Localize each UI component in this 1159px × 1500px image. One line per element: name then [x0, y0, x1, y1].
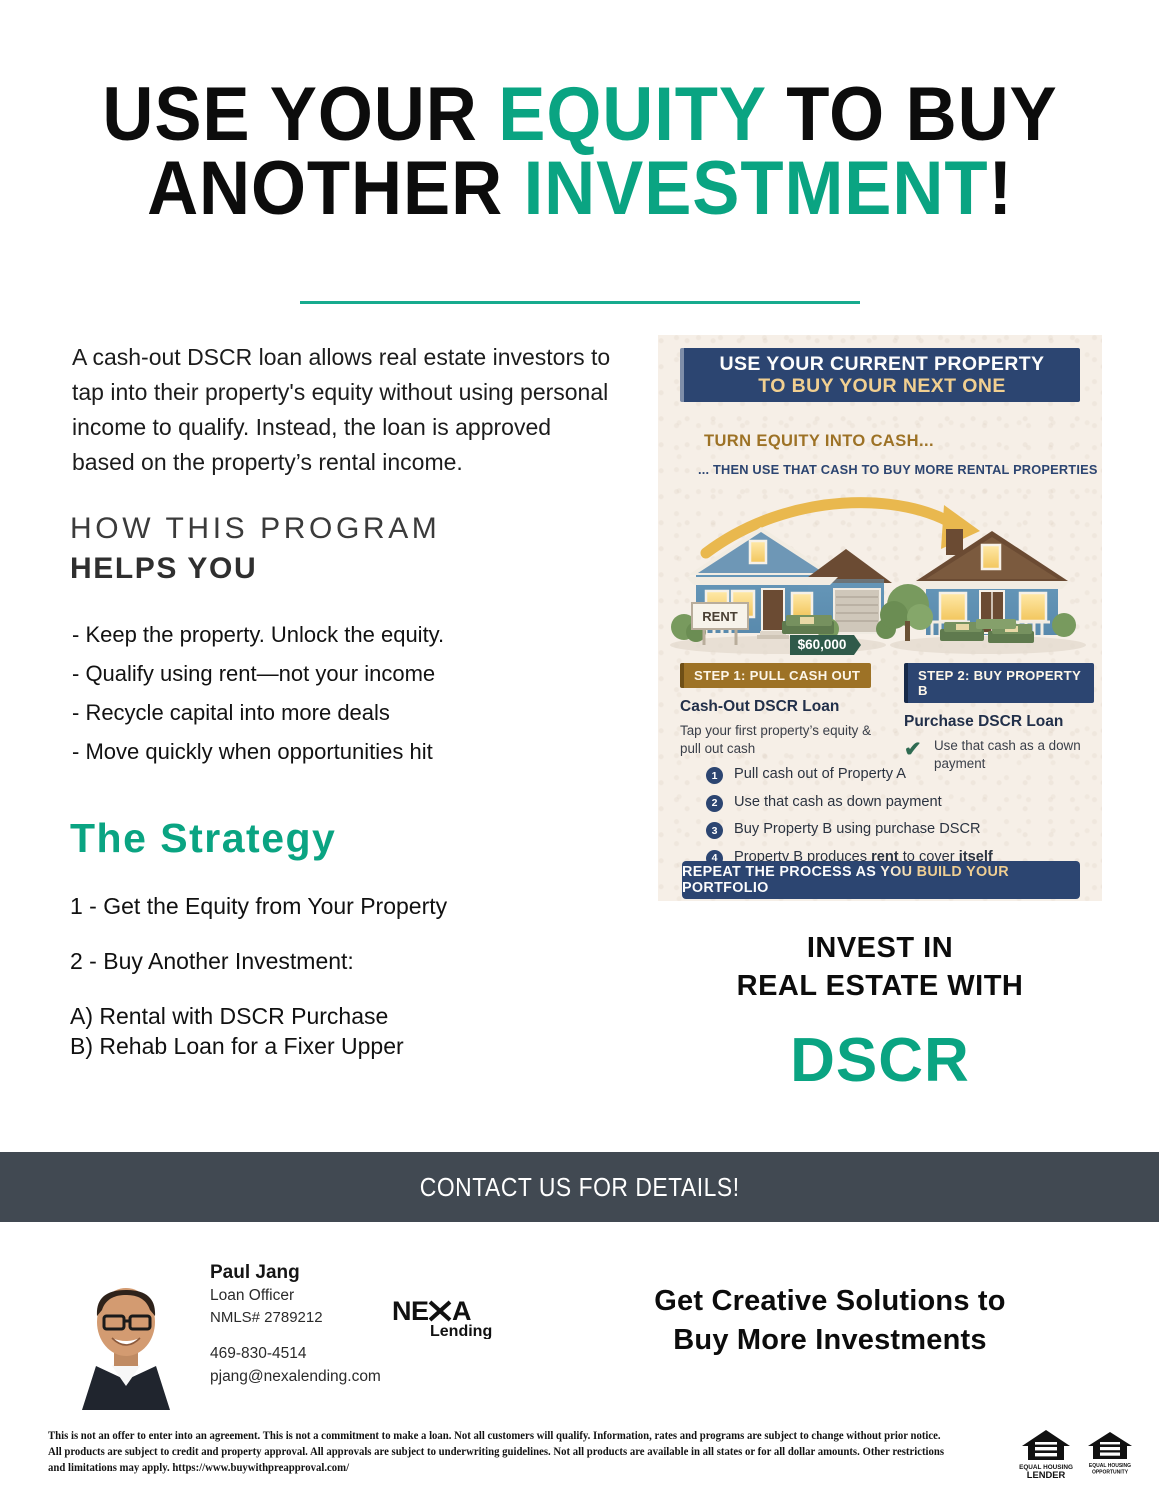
invest-line-2: REAL ESTATE WITH: [737, 970, 1024, 1002]
houses-illustration: RENT $60,000: [658, 493, 1102, 663]
avatar: [52, 1262, 200, 1410]
list-item: - Qualify using rent—not your income: [72, 661, 617, 687]
intro-paragraph: A cash-out DSCR loan allows real estate …: [72, 340, 617, 480]
contact-banner-label: CONTACT US FOR DETAILS!: [420, 1172, 740, 1203]
house-a: RENT $60,000: [671, 527, 896, 655]
nexa-letter-n: N: [392, 1297, 412, 1326]
headline-text: TO BUY: [766, 72, 1058, 157]
equal-housing-opportunity-icon: EQUAL HOUSING OPPORTUNITY: [1088, 1432, 1132, 1476]
repeat-process-label: REPEAT THE PROCESS AS YOU BUILD YOUR POR…: [682, 864, 1080, 896]
house-b: [880, 529, 1076, 643]
svg-text:LENDER: LENDER: [1027, 1469, 1066, 1480]
list-item: 1 Pull cash out of Property A: [706, 766, 1096, 784]
number-badge: 2: [706, 795, 723, 812]
headline-line-2: ANOTHER INVESTMENT!: [147, 146, 1013, 231]
rent-sign-label: RENT: [702, 609, 737, 624]
how-heading-bold: HELPS YOU: [70, 552, 257, 586]
infographic-header-band: USE YOUR CURRENT PROPERTY TO BUY YOUR NE…: [680, 348, 1080, 402]
step-1-badge: STEP 1: PULL CASH OUT: [680, 663, 871, 688]
headline-text: USE YOUR: [102, 72, 498, 157]
checkmark-icon: ✔: [904, 739, 926, 759]
svg-text:EQUAL HOUSING: EQUAL HOUSING: [1089, 1463, 1131, 1469]
strategy-option-a: A) Rental with DSCR Purchase: [70, 1003, 388, 1029]
repeat-process-banner: REPEAT THE PROCESS AS YOU BUILD YOUR POR…: [682, 861, 1080, 899]
agent-nmls: NMLS# 2789212: [210, 1309, 323, 1326]
svg-text:OPPORTUNITY: OPPORTUNITY: [1092, 1470, 1129, 1476]
nexa-lending-logo: N E A Lending: [392, 1297, 502, 1344]
agent-role: Loan Officer: [210, 1287, 294, 1305]
nexa-lending-word: Lending: [430, 1323, 492, 1339]
agent-phone[interactable]: 469-830-4514: [210, 1345, 307, 1363]
dscr-wordmark: DSCR: [660, 1025, 1100, 1096]
process-numbered-list: 1 Pull cash out of Property A 2 Use that…: [706, 766, 1096, 876]
list-item: - Keep the property. Unlock the equity.: [72, 622, 617, 648]
process-step-text: Use that cash as down payment: [734, 794, 942, 810]
contact-banner: CONTACT US FOR DETAILS!: [0, 1152, 1159, 1222]
strategy-step-2: 2 - Buy Another Investment:: [70, 948, 630, 975]
step-2-badge: STEP 2: BUY PROPERTY B: [904, 663, 1094, 703]
agent-name: Paul Jang: [210, 1262, 300, 1284]
nexa-letter-a: A: [452, 1297, 472, 1326]
process-step-text: Pull cash out of Property A: [734, 766, 906, 782]
step-2-title: Purchase DSCR Loan: [904, 713, 1094, 731]
turn-equity-subhead: TURN EQUITY INTO CASH...: [704, 432, 934, 451]
headline-accent-equity: EQUITY: [498, 72, 765, 157]
equal-housing-logos: EQUAL HOUSING LENDER EQUAL HOUSING OPPOR…: [1018, 1426, 1138, 1484]
nexa-logo-mark: N E A Lending: [392, 1297, 502, 1339]
process-step-text: Buy Property B using purchase DSCR: [734, 821, 981, 837]
agent-email[interactable]: pjang@nexalending.com: [210, 1368, 381, 1386]
infographic-header-line-2: TO BUY YOUR NEXT ONE: [684, 376, 1080, 398]
strategy-steps: 1 - Get the Equity from Your Property 2 …: [70, 893, 630, 1062]
headline-accent-investment: INVESTMENT: [524, 146, 989, 231]
headline-line-1: USE YOUR EQUITY TO BUY: [102, 72, 1057, 157]
flyer-page: USE YOUR EQUITY TO BUY ANOTHER INVESTMEN…: [0, 0, 1159, 1500]
cash-amount-label: $60,000: [798, 637, 847, 652]
list-item: 3 Buy Property B using purchase DSCR: [706, 821, 1096, 839]
invest-line-1: INVEST IN: [807, 932, 953, 964]
tagline-line-1: Get Creative Solutions to: [654, 1285, 1005, 1317]
teal-divider-rule: [300, 301, 860, 304]
how-heading-light: HOW THIS PROGRAM: [70, 512, 440, 546]
footer-tagline: Get Creative Solutions to Buy More Inves…: [560, 1282, 1100, 1359]
list-item: - Move quickly when opportunities hit: [72, 739, 617, 765]
list-item: 2 Use that cash as down payment: [706, 794, 1096, 812]
legal-disclaimer: This is not an offer to enter into an ag…: [48, 1428, 951, 1476]
step-2-box: STEP 2: BUY PROPERTY B Purchase DSCR Loa…: [904, 663, 1094, 773]
nexa-letter-e: E: [411, 1297, 429, 1326]
strategy-option-b: B) Rehab Loan for a Fixer Upper: [70, 1033, 404, 1059]
benefits-list: - Keep the property. Unlock the equity. …: [72, 622, 617, 778]
strategy-step-1: 1 - Get the Equity from Your Property: [70, 893, 630, 920]
headline-text: ANOTHER: [147, 146, 524, 231]
step-1-box: STEP 1: PULL CASH OUT Cash-Out DSCR Loan…: [680, 663, 876, 758]
infographic-header-line-1: USE YOUR CURRENT PROPERTY: [684, 354, 1080, 376]
number-badge: 3: [706, 822, 723, 839]
number-badge: 1: [706, 767, 723, 784]
then-use-subhead: ... THEN USE THAT CASH TO BUY MORE RENTA…: [698, 462, 1098, 477]
equal-housing-lender-icon: EQUAL HOUSING LENDER: [1019, 1430, 1073, 1480]
step-1-title: Cash-Out DSCR Loan: [680, 698, 876, 716]
strategy-options: A) Rental with DSCR Purchase B) Rehab Lo…: [70, 1001, 630, 1062]
tagline-line-2: Buy More Investments: [673, 1324, 986, 1356]
strategy-heading: The Strategy: [70, 815, 336, 862]
step-1-description: Tap your first property’s equity & pull …: [680, 722, 876, 758]
page-title: USE YOUR EQUITY TO BUY ANOTHER INVESTMEN…: [96, 78, 1063, 227]
list-item: - Recycle capital into more deals: [72, 700, 617, 726]
invest-heading: INVEST IN REAL ESTATE WITH: [660, 930, 1100, 1005]
headline-text: !: [988, 146, 1012, 231]
